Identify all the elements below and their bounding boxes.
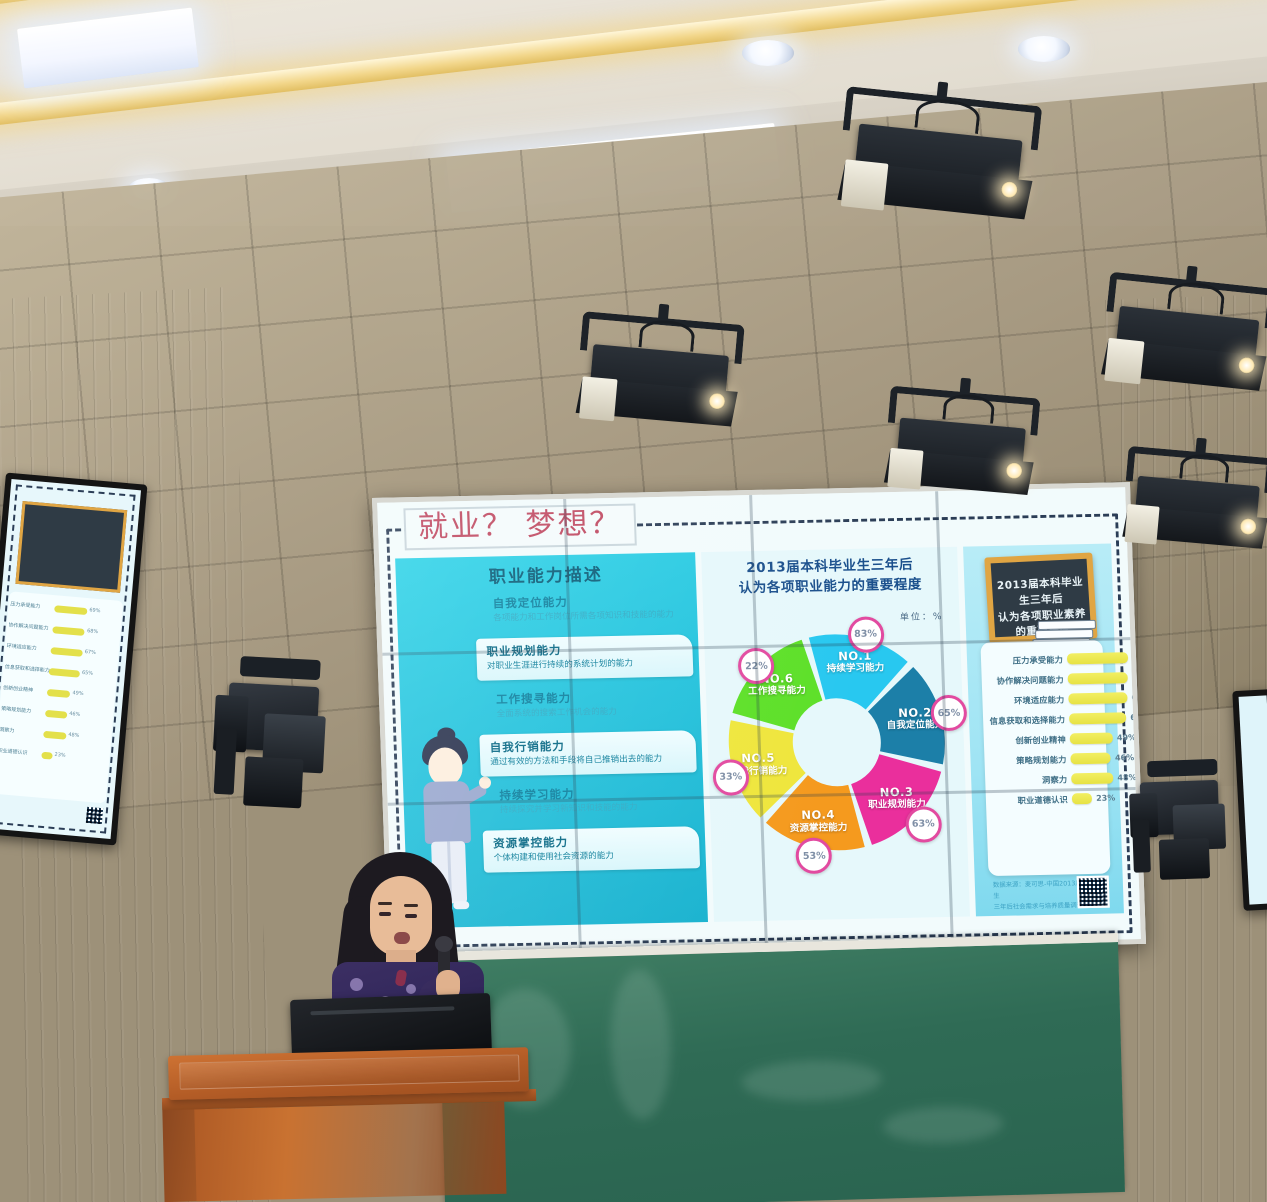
bar-label: 策略规划能力 xyxy=(988,753,1066,767)
bar-value: 65% xyxy=(82,670,94,677)
pie-slice-label: NO.1持续学习能力 xyxy=(819,648,892,676)
slide-right-panel: 2013届本科毕业生三年后 认为各项职业素养的重要程度 压力承受能力69%协作解… xyxy=(963,544,1124,917)
bar-value: 49% xyxy=(72,690,84,697)
presenter-eye-left xyxy=(379,912,391,916)
presenter-brow-left xyxy=(378,902,392,905)
bar-chart-row: 信息获取和选择能力65% xyxy=(983,710,1106,731)
hexagon-title-line1: 2013届本科毕业生三年后 xyxy=(746,557,913,576)
side-monitor-right-screen xyxy=(1239,695,1267,904)
pie-slice-rank: NO.4 xyxy=(782,807,854,823)
bar-label: 压力承受能力 xyxy=(985,654,1063,668)
chalk-smudge-3 xyxy=(741,1059,882,1103)
pie-slice-percent-badge: 65% xyxy=(930,695,967,732)
slide-bar-chart-card: 压力承受能力69%协作解决问题能力68%环境适应能力67%信息获取和选择能力65… xyxy=(0,591,123,803)
pie-slice-label: NO.4资源掌控能力 xyxy=(782,807,855,835)
slide-chalkboard-graphic xyxy=(15,501,127,593)
laptop-screen-content xyxy=(310,1006,454,1016)
chalkboard-line-1: 2013届本科毕业生三年后 xyxy=(997,576,1084,607)
bar-chart-row: 策略规划能力46% xyxy=(984,750,1107,771)
camera-wall-mount xyxy=(243,756,303,809)
bar-label: 协作解决问题能力 xyxy=(986,674,1064,688)
pie-slice-percent-badge: 63% xyxy=(905,806,942,843)
left-panel-heading: 职业能力描述 xyxy=(395,558,696,589)
pie-slice-name: 资源掌控能力 xyxy=(782,822,854,835)
bar xyxy=(52,626,85,636)
ceiling-downlight-4 xyxy=(742,40,794,66)
bar-chart-row: 压力承受能力69% xyxy=(981,650,1104,671)
bar-value: 49% xyxy=(1117,733,1136,742)
qr-code-icon xyxy=(85,807,102,824)
camera-mount-arm xyxy=(1132,819,1151,872)
bar-chart-row: 协作解决问题能力68% xyxy=(981,670,1104,691)
pie-slice-percent-badge: 33% xyxy=(712,759,749,796)
camera-handle xyxy=(240,656,322,680)
slide-title: 就业？ 梦想？ xyxy=(418,509,623,543)
bar-label: 职业道德认识 xyxy=(990,793,1068,807)
hexagon-title-line2: 认为各项职业能力的重要程度 xyxy=(738,576,922,596)
side-monitor-left-screen: 压力承受能力69%协作解决问题能力68%环境适应能力67%信息获取和选择能力65… xyxy=(0,479,141,839)
camera-wall-mount xyxy=(1159,838,1210,879)
pie-slice-name: 持续学习能力 xyxy=(819,662,891,675)
source-line-2: 三年后社会需求与培养质量调查 xyxy=(994,901,1084,911)
bar xyxy=(43,731,67,740)
bar-label: 压力承受能力 xyxy=(10,600,41,610)
stage-spotlight-1 xyxy=(834,86,1043,236)
bar-chart-card: 压力承受能力69%协作解决问题能力68%环境适应能力67%信息获取和选择能力65… xyxy=(980,640,1110,876)
bar xyxy=(46,689,70,698)
bar-label: 协作解决问题能力 xyxy=(8,621,48,631)
lecture-hall-photo: 压力承受能力69%协作解决问题能力68%环境适应能力67%信息获取和选择能力65… xyxy=(0,0,1267,1202)
bar xyxy=(1068,672,1128,684)
green-chalkboard xyxy=(438,933,1125,1202)
slide-hexagon-panel: 2013届本科毕业生三年后 认为各项职业能力的重要程度 单位：% NO.1持续学… xyxy=(701,547,970,922)
bar-label: 洞察力 xyxy=(989,773,1067,787)
bar-label: 职业道德认识 xyxy=(0,747,28,757)
spotlight-lens xyxy=(841,159,889,210)
bar-value: 23% xyxy=(1096,793,1115,802)
bar-chart-row: 环境适应能力67% xyxy=(982,690,1105,711)
bar-label: 信息获取和选择能力 xyxy=(5,663,50,674)
presenter-eye-right xyxy=(405,914,417,918)
bar-value: 67% xyxy=(84,649,96,656)
bar xyxy=(1068,692,1127,704)
bar xyxy=(44,710,67,719)
capability-item: 资源掌控能力个体构建和使用社会资源的能力 xyxy=(483,826,700,872)
stage-spotlight-4 xyxy=(1098,272,1267,407)
qr-code-icon xyxy=(1077,876,1110,909)
bar xyxy=(1072,793,1093,804)
data-source-footer: 数据来源：麦可思-中国2013届大学毕业生 三年后社会需求与培养质量调查 xyxy=(993,876,1110,908)
spotlight-lens xyxy=(1104,338,1145,384)
bar-label: 创新创业精神 xyxy=(3,684,34,694)
capability-item: 自我行销能力通过有效的方法和手段将自己推销出去的能力 xyxy=(479,730,696,776)
camera-mount-arm xyxy=(213,728,237,795)
bar-label: 信息获取和选择能力 xyxy=(987,714,1065,728)
pie-slice-name: 工作搜寻能力 xyxy=(741,685,813,698)
bar xyxy=(41,752,53,760)
podium-top-inset xyxy=(179,1054,520,1089)
stage-spotlight-3 xyxy=(881,386,1040,509)
bar xyxy=(1069,712,1127,724)
head-shape xyxy=(428,747,463,786)
wall-camera-right xyxy=(1128,750,1241,886)
capability-item: 自我定位能力各项能力和工作岗位所需各项知识和技能的能力 xyxy=(482,586,691,632)
bar xyxy=(54,605,88,615)
pie-slice-percent-badge: 83% xyxy=(847,616,884,653)
camera-handle xyxy=(1147,759,1217,777)
bar-label: 创新创业精神 xyxy=(988,734,1066,748)
stage-spotlight-2 xyxy=(573,311,744,441)
slide-title-box: 就业？ 梦想？ xyxy=(403,503,636,550)
spotlight-lens xyxy=(887,447,923,489)
capability-item: 职业规划能力对职业生涯进行持续的系统计划的能力 xyxy=(476,634,693,680)
capability-item: 工作搜寻能力全面系统的搜索工作机会的能力 xyxy=(486,682,695,728)
bar-value: 46% xyxy=(69,711,81,718)
bar xyxy=(1067,652,1128,664)
bar xyxy=(50,647,83,657)
chalk-smudge-2 xyxy=(609,969,673,1121)
bar xyxy=(1070,733,1113,745)
bar-value: 69% xyxy=(89,607,101,614)
bar-label: 洞察力 xyxy=(0,726,15,734)
bar-chart-row: 创新创业精神49% xyxy=(984,730,1107,751)
podium-top xyxy=(168,1047,529,1100)
presenter-mouth xyxy=(394,932,410,944)
wall-camera-left xyxy=(210,645,345,817)
wooden-podium xyxy=(168,1047,531,1202)
dress-pattern-1 xyxy=(350,978,363,991)
bar-label: 环境适应能力 xyxy=(986,694,1064,708)
ceiling-downlight-5 xyxy=(1018,36,1070,62)
bar-value: 68% xyxy=(87,628,99,635)
bar xyxy=(1071,773,1114,785)
podium-front-panel xyxy=(194,1102,506,1202)
hexagon-chart-unit: 单位：% xyxy=(900,609,944,623)
spotlight-lens xyxy=(1125,504,1160,544)
dress-pattern-4 xyxy=(406,984,416,994)
torso-shape xyxy=(423,781,471,844)
hexagon-chart-title: 2013届本科毕业生三年后 认为各项职业能力的重要程度 xyxy=(701,555,958,599)
bar-value: 48% xyxy=(68,732,80,739)
bar xyxy=(48,668,80,678)
bar-label: 环境适应能力 xyxy=(6,642,37,652)
presenter-brow-right xyxy=(404,904,418,907)
bar xyxy=(1070,753,1111,765)
spotlight-lens xyxy=(579,376,618,421)
microphone-head xyxy=(435,936,453,952)
presenter-face xyxy=(370,876,432,956)
bar-value: 23% xyxy=(54,752,66,759)
chalk-smudge-4 xyxy=(883,1105,1004,1144)
bar-label: 策略规划能力 xyxy=(1,705,32,715)
stage-spotlight-5 xyxy=(1120,446,1267,562)
